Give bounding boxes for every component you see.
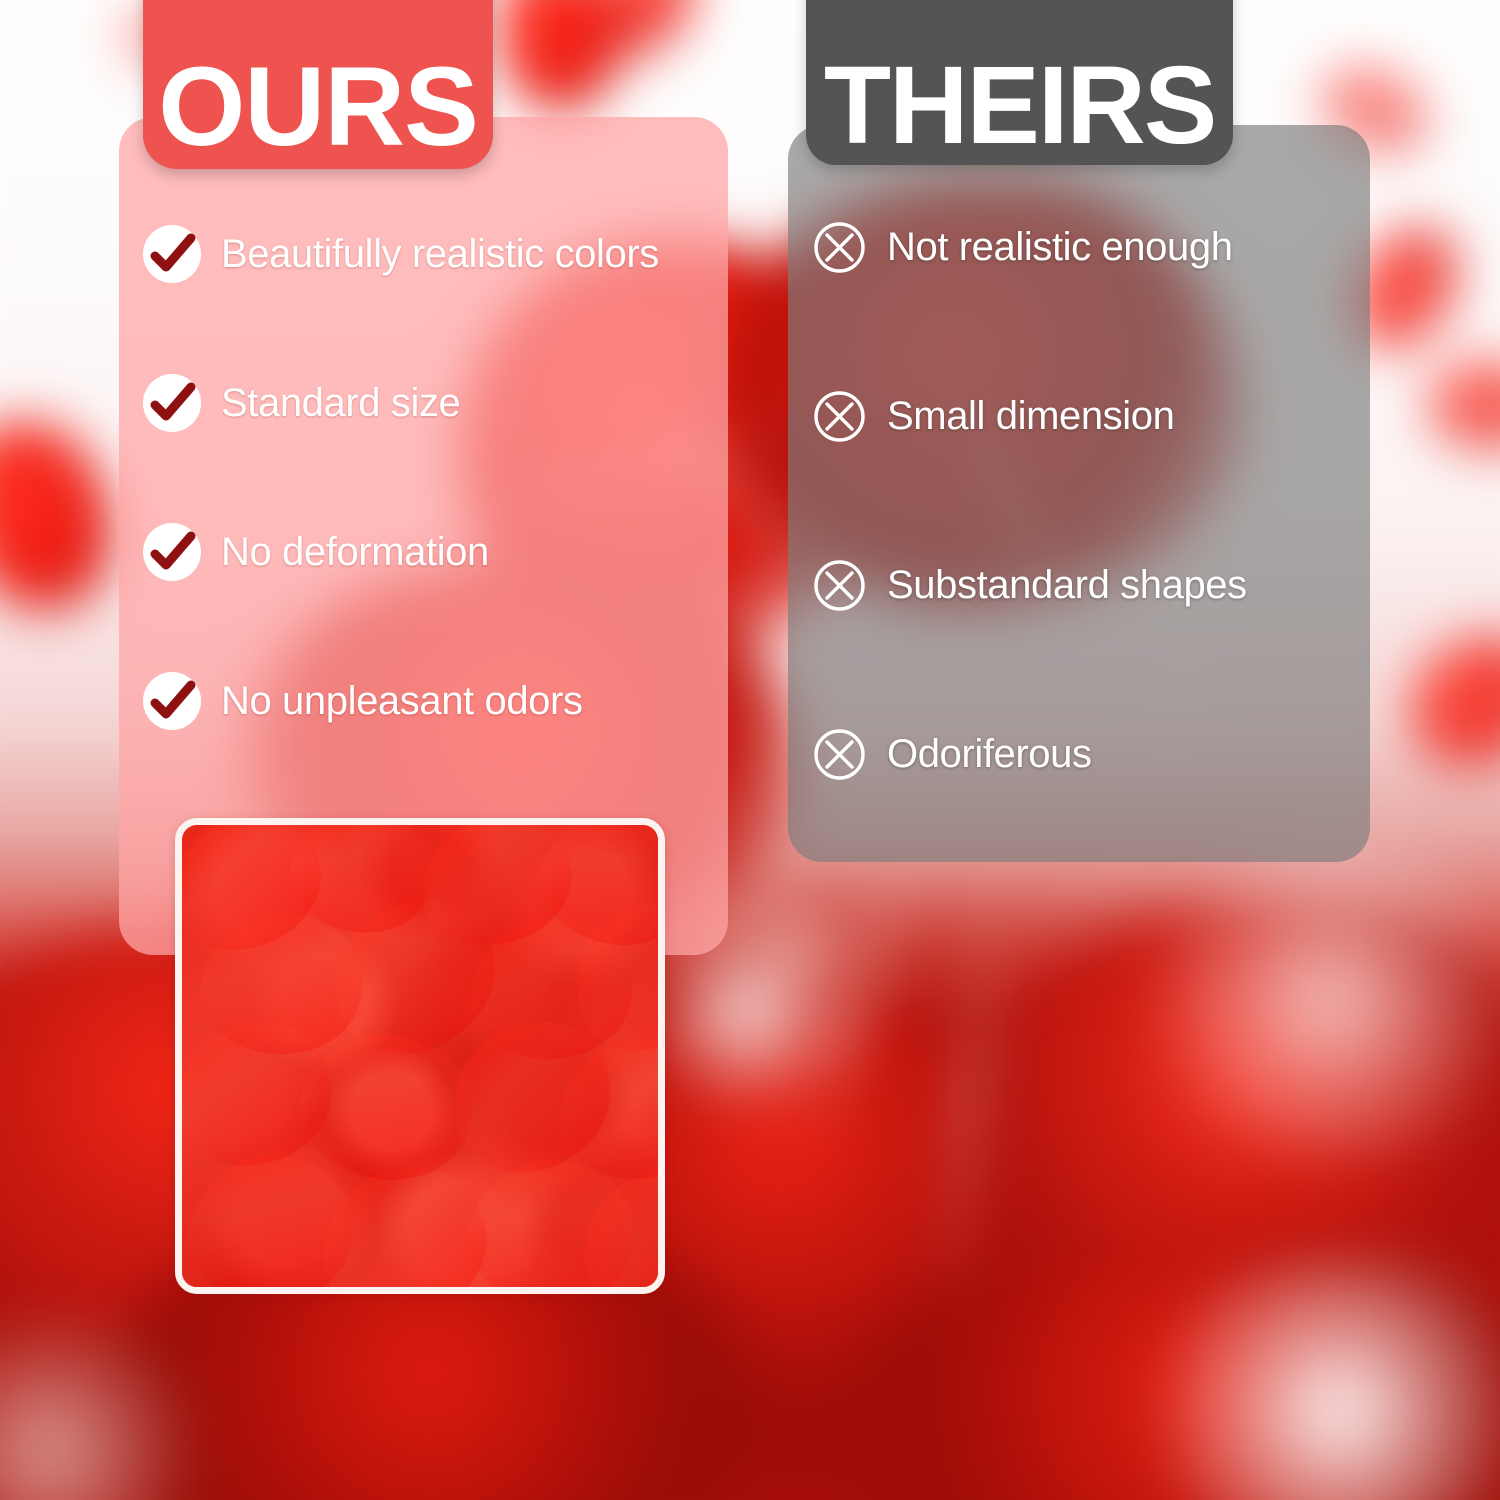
ours-feature-row: No unpleasant odors (143, 672, 723, 730)
ours-feature-row: Standard size (143, 374, 723, 432)
check-circle-icon (143, 523, 201, 581)
check-circle-icon (143, 374, 201, 432)
theirs-feature-label: Odoriferous (887, 732, 1092, 777)
theirs-feature-row: Odoriferous (812, 725, 1372, 783)
ours-feature-row: Beautifully realistic colors (143, 225, 723, 283)
ours-feature-list: Beautifully realistic colors Standard si… (143, 225, 723, 730)
ours-feature-label: No deformation (221, 530, 489, 575)
theirs-badge-label: THEIRS (824, 53, 1215, 159)
theirs-feature-label: Small dimension (887, 394, 1174, 439)
x-circle-icon (812, 220, 867, 275)
theirs-feature-list: Not realistic enough Small dimension Sub… (812, 218, 1372, 783)
ours-badge: OURS (143, 0, 493, 169)
theirs-feature-label: Not realistic enough (887, 225, 1233, 270)
x-circle-icon (812, 389, 867, 444)
theirs-feature-row: Not realistic enough (812, 218, 1372, 276)
infographic-canvas: OURS Beautifully realistic colors Standa… (0, 0, 1500, 1500)
x-circle-icon (812, 727, 867, 782)
theirs-feature-row: Substandard shapes (812, 556, 1372, 614)
ours-feature-label: Standard size (221, 381, 460, 426)
theirs-feature-row: Small dimension (812, 387, 1372, 445)
product-closeup-photo (175, 818, 665, 1294)
check-circle-icon (143, 672, 201, 730)
theirs-badge: THEIRS (806, 0, 1233, 165)
ours-feature-label: No unpleasant odors (221, 679, 583, 724)
theirs-feature-label: Substandard shapes (887, 563, 1247, 608)
check-circle-icon (143, 225, 201, 283)
product-photo-petals (182, 825, 658, 1287)
ours-feature-label: Beautifully realistic colors (221, 232, 659, 277)
x-circle-icon (812, 558, 867, 613)
ours-feature-row: No deformation (143, 523, 723, 581)
ours-badge-label: OURS (158, 53, 478, 161)
